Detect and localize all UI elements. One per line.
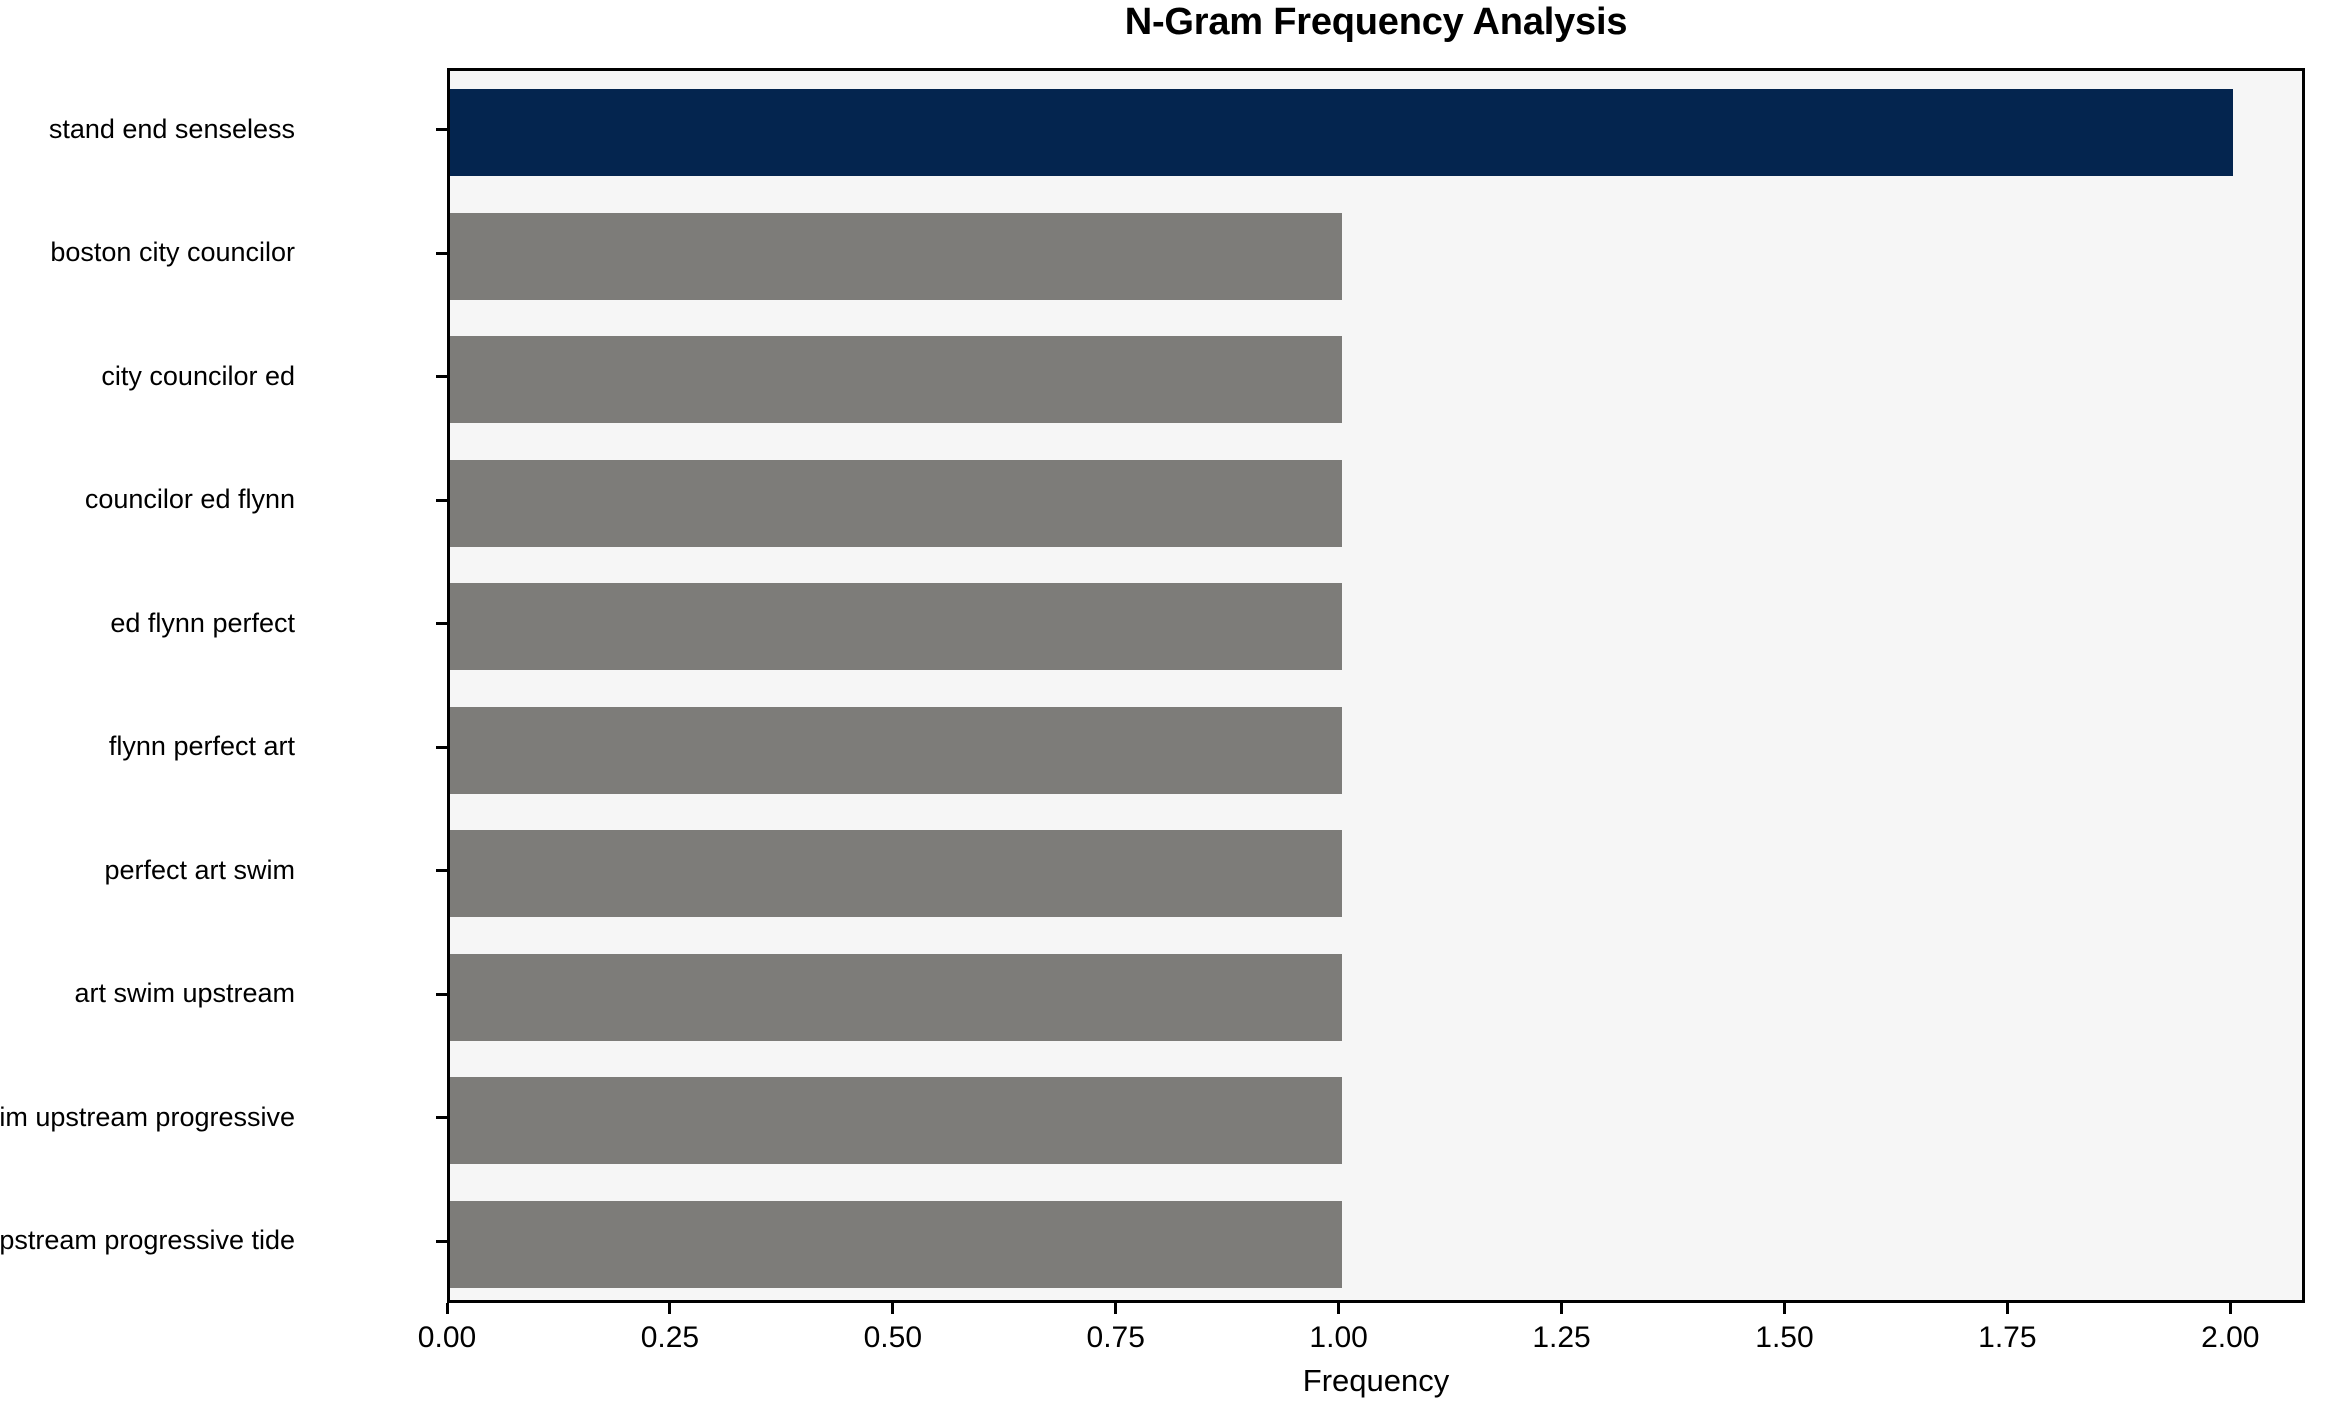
y-tick-label: art swim upstream <box>74 980 295 1007</box>
y-tick-mark <box>436 746 447 749</box>
x-tick-mark <box>2006 1303 2009 1314</box>
y-tick-mark <box>436 499 447 502</box>
y-tick-mark <box>436 375 447 378</box>
x-tick-mark <box>1783 1303 1786 1314</box>
x-tick-label: 1.50 <box>1755 1322 1813 1354</box>
y-tick-label: flynn perfect art <box>109 733 295 760</box>
x-tick-mark <box>1114 1303 1117 1314</box>
bars-container <box>450 71 2302 1300</box>
chart-title: N-Gram Frequency Analysis <box>447 2 2305 42</box>
bar <box>450 707 1342 794</box>
x-tick-label: 0.50 <box>864 1322 922 1354</box>
bar <box>450 89 2233 176</box>
y-tick-label: upstream progressive tide <box>0 1227 295 1254</box>
y-tick-mark <box>436 1116 447 1119</box>
y-tick-mark <box>436 128 447 131</box>
x-tick-label: 0.00 <box>418 1322 476 1354</box>
bar <box>450 1077 1342 1164</box>
x-tick-label: 0.75 <box>1087 1322 1145 1354</box>
bar <box>450 830 1342 917</box>
plot-area <box>447 68 2305 1303</box>
chart-figure: N-Gram Frequency Analysis stand end sens… <box>0 0 2325 1414</box>
y-tick-label: councilor ed flynn <box>85 486 295 513</box>
bar <box>450 954 1342 1041</box>
x-tick-label: 1.75 <box>1978 1322 2036 1354</box>
bar <box>450 336 1342 423</box>
y-tick-mark <box>436 252 447 255</box>
y-tick-mark <box>436 869 447 872</box>
y-tick-label: city councilor ed <box>101 363 295 390</box>
x-tick-label: 1.25 <box>1532 1322 1590 1354</box>
x-tick-mark <box>446 1303 449 1314</box>
x-tick-mark <box>891 1303 894 1314</box>
x-tick-mark <box>2229 1303 2232 1314</box>
x-axis-label: Frequency <box>447 1364 2305 1398</box>
bar <box>450 213 1342 300</box>
y-tick-label: boston city councilor <box>50 239 295 266</box>
bar <box>450 583 1342 670</box>
x-tick-label: 1.00 <box>1309 1322 1367 1354</box>
x-tick-mark <box>1560 1303 1563 1314</box>
y-tick-label: perfect art swim <box>104 857 295 884</box>
x-tick-label: 2.00 <box>2201 1322 2259 1354</box>
y-tick-label: swim upstream progressive <box>0 1104 295 1131</box>
y-tick-label: stand end senseless <box>49 116 295 143</box>
x-tick-mark <box>1337 1303 1340 1314</box>
y-tick-label: ed flynn perfect <box>110 610 295 637</box>
x-tick-mark <box>668 1303 671 1314</box>
y-tick-mark <box>436 622 447 625</box>
bar <box>450 1201 1342 1288</box>
x-tick-label: 0.25 <box>641 1322 699 1354</box>
y-tick-mark <box>436 1240 447 1243</box>
y-tick-mark <box>436 993 447 996</box>
bar <box>450 460 1342 547</box>
